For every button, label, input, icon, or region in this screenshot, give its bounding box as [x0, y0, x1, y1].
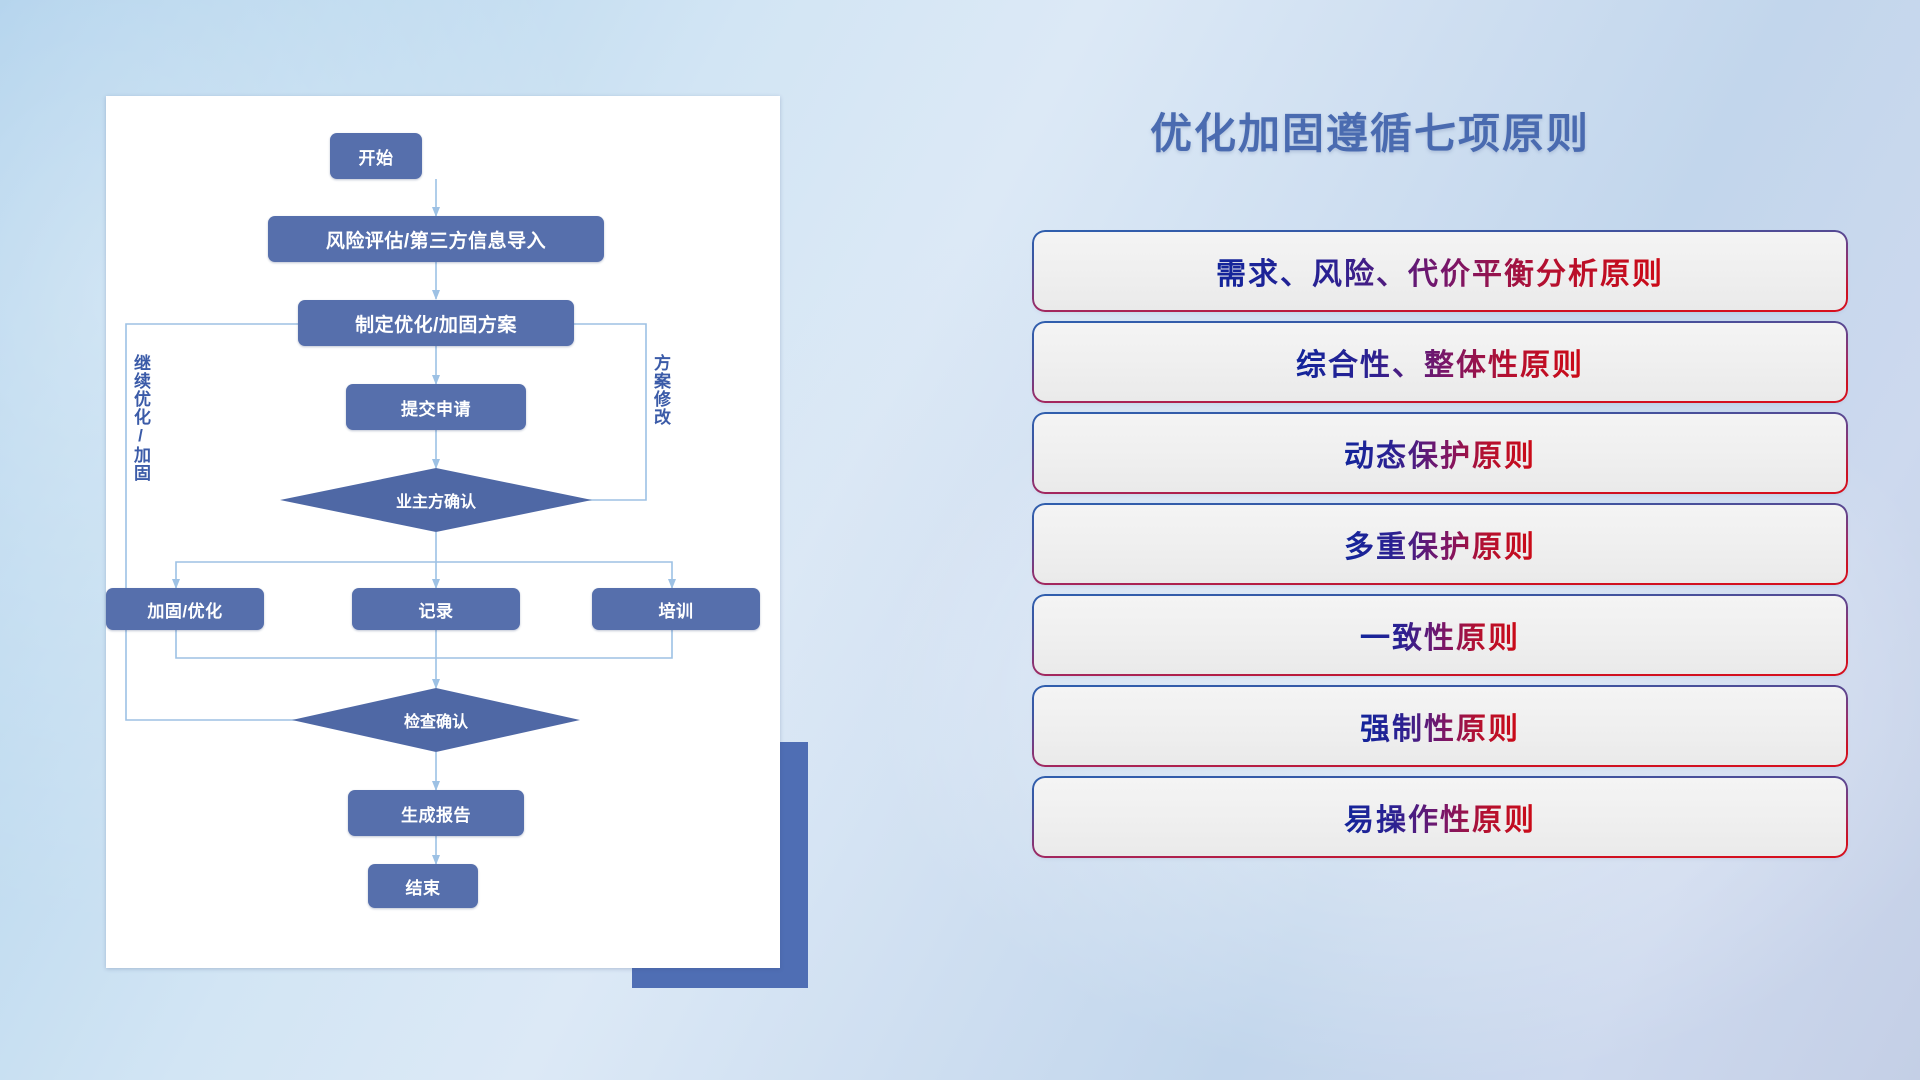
principle-card-3[interactable]: 动态保护原则	[1034, 414, 1846, 492]
principle-label: 多重保护原则	[1344, 522, 1536, 566]
principle-card-4[interactable]: 多重保护原则	[1034, 505, 1846, 583]
flowchart-panel: 开始 风险评估/第三方信息导入 制定优化/加固方案 提交申请 业主方确认 加固/…	[106, 96, 780, 968]
flow-node-report[interactable]: 生成报告	[348, 790, 524, 836]
flow-node-end[interactable]: 结束	[368, 864, 478, 908]
principle-label: 需求、风险、代价平衡分析原则	[1216, 249, 1664, 293]
flow-node-reinforce[interactable]: 加固/优化	[106, 588, 264, 630]
flow-node-record[interactable]: 记录	[352, 588, 520, 630]
flow-decision-label: 检查确认	[404, 708, 468, 732]
principle-card-6[interactable]: 强制性原则	[1034, 687, 1846, 765]
flow-node-plan[interactable]: 制定优化/加固方案	[298, 300, 574, 346]
flow-node-start[interactable]: 开始	[330, 133, 422, 179]
principle-card-1[interactable]: 需求、风险、代价平衡分析原则	[1034, 232, 1846, 310]
flow-decision-label: 业主方确认	[396, 488, 476, 512]
flow-node-label: 风险评估/第三方信息导入	[326, 226, 546, 253]
principle-label: 强制性原则	[1360, 704, 1520, 748]
flow-node-label: 记录	[419, 597, 454, 622]
flow-node-label: 开始	[359, 144, 394, 169]
principles-section: 优化加固遵循七项原则 需求、风险、代价平衡分析原则 综合性、整体性原则 动态保护…	[1020, 86, 1860, 1006]
flow-node-label: 加固/优化	[147, 597, 222, 622]
principle-label: 一致性原则	[1360, 613, 1520, 657]
flow-loop-label-right: 方案修改	[652, 354, 669, 426]
principle-card-5[interactable]: 一致性原则	[1034, 596, 1846, 674]
principle-card-2[interactable]: 综合性、整体性原则	[1034, 323, 1846, 401]
principle-label: 动态保护原则	[1344, 431, 1536, 475]
principles-title: 优化加固遵循七项原则	[1150, 100, 1590, 161]
flow-node-label: 生成报告	[401, 801, 471, 826]
flow-node-submit[interactable]: 提交申请	[346, 384, 526, 430]
principle-label: 易操作性原则	[1344, 795, 1536, 839]
flow-node-label: 制定优化/加固方案	[355, 310, 517, 337]
principle-label: 综合性、整体性原则	[1296, 340, 1584, 384]
flow-node-label: 结束	[406, 874, 441, 899]
flow-node-label: 培训	[659, 597, 694, 622]
flow-node-train[interactable]: 培训	[592, 588, 760, 630]
flow-node-risk-assessment[interactable]: 风险评估/第三方信息导入	[268, 216, 604, 262]
flow-node-label: 提交申请	[401, 395, 471, 420]
principle-card-7[interactable]: 易操作性原则	[1034, 778, 1846, 856]
flow-loop-label-left: 继续优化/加固	[132, 354, 149, 482]
